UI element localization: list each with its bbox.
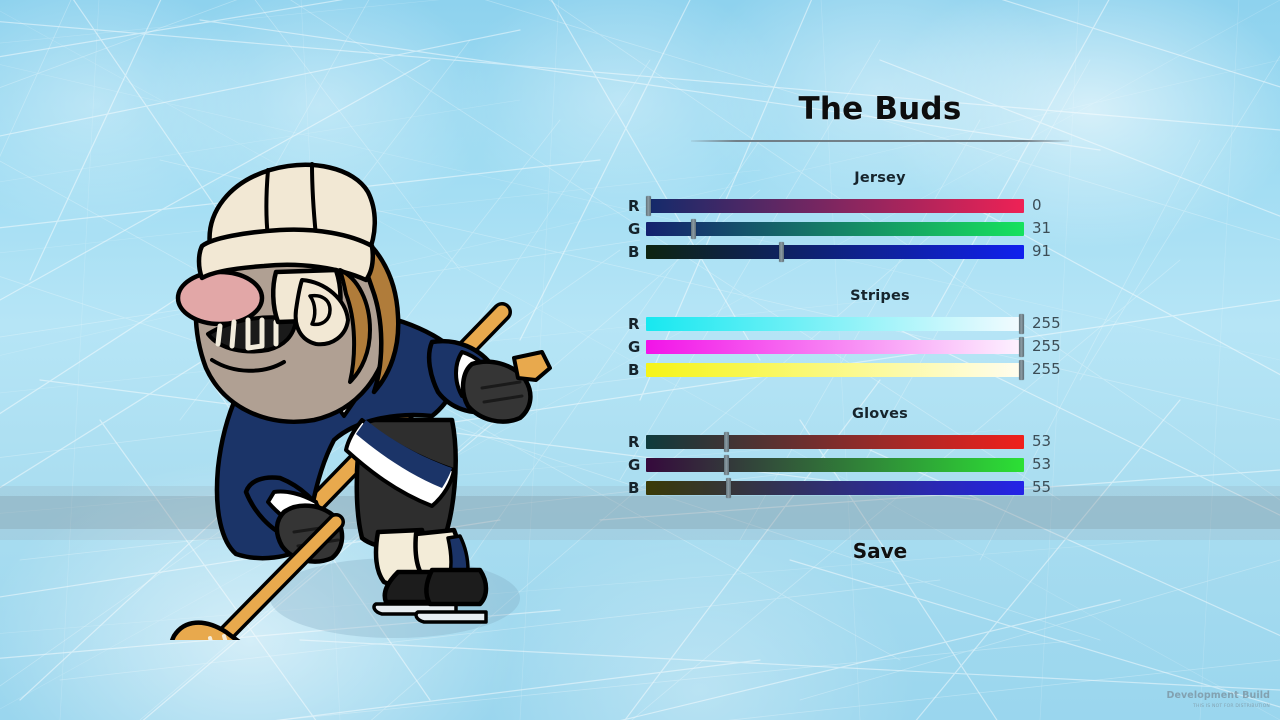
channel-label-r: R (620, 198, 646, 214)
slider-track-r[interactable] (646, 199, 1024, 213)
slider-handle-b[interactable] (779, 242, 784, 262)
slider-row-gloves-r[interactable]: R53 (620, 434, 1140, 450)
slider-track-g[interactable] (646, 222, 1024, 236)
channel-label-r: R (620, 434, 646, 450)
slider-row-jersey-b[interactable]: B91 (620, 244, 1140, 260)
slider-track-b[interactable] (646, 481, 1024, 495)
slider-row-jersey-r[interactable]: R0 (620, 198, 1140, 214)
hockey-player-character (150, 120, 590, 640)
channel-label-b: B (620, 244, 646, 260)
slider-value-r: 255 (1032, 314, 1061, 333)
slider-track-b[interactable] (646, 363, 1024, 377)
slider-group-jersey: JerseyR0G31B91 (620, 168, 1140, 260)
channel-label-b: B (620, 362, 646, 378)
slider-value-b: 255 (1032, 360, 1061, 379)
slider-group-stripes: StripesR255G255B255 (620, 286, 1140, 378)
slider-track-r[interactable] (646, 317, 1024, 331)
slider-groups: JerseyR0G31B91StripesR255G255B255GlovesR… (620, 168, 1140, 496)
slider-value-b: 91 (1032, 242, 1051, 261)
slider-handle-g[interactable] (1019, 337, 1024, 357)
slider-row-stripes-b[interactable]: B255 (620, 362, 1140, 378)
channel-label-g: G (620, 457, 646, 473)
slider-group-gloves: GlovesR53G53B55 (620, 404, 1140, 496)
stick-knob (514, 352, 550, 380)
slider-track-wrap[interactable]: 255 (646, 317, 1024, 331)
slider-handle-r[interactable] (724, 432, 729, 452)
slider-track-b[interactable] (646, 245, 1024, 259)
slider-track-wrap[interactable]: 31 (646, 222, 1024, 236)
group-label-jersey: Jersey (620, 168, 1140, 188)
slider-track-wrap[interactable]: 55 (646, 481, 1024, 495)
group-label-stripes: Stripes (620, 286, 1140, 306)
slider-track-r[interactable] (646, 435, 1024, 449)
slider-value-g: 53 (1032, 455, 1051, 474)
slider-value-r: 0 (1032, 196, 1042, 215)
slider-track-g[interactable] (646, 340, 1024, 354)
slider-track-wrap[interactable]: 53 (646, 458, 1024, 472)
slider-track-wrap[interactable]: 91 (646, 245, 1024, 259)
skate-blade-right (416, 612, 486, 622)
customizer-panel: The Buds JerseyR0G31B91StripesR255G255B2… (620, 90, 1140, 630)
slider-value-g: 31 (1032, 219, 1051, 238)
slider-track-wrap[interactable]: 53 (646, 435, 1024, 449)
slider-handle-g[interactable] (691, 219, 696, 239)
channel-label-g: G (620, 339, 646, 355)
slider-value-r: 53 (1032, 432, 1051, 451)
slider-handle-b[interactable] (1019, 360, 1024, 380)
slider-handle-b[interactable] (726, 478, 731, 498)
slider-row-jersey-g[interactable]: G31 (620, 221, 1140, 237)
slider-value-g: 255 (1032, 337, 1061, 356)
slider-row-stripes-r[interactable]: R255 (620, 316, 1140, 332)
slider-track-wrap[interactable]: 255 (646, 363, 1024, 377)
channel-label-r: R (620, 316, 646, 332)
title-divider (691, 140, 1069, 142)
slider-track-g[interactable] (646, 458, 1024, 472)
slider-handle-r[interactable] (646, 196, 651, 216)
watermark-label: Development Build (1166, 690, 1270, 701)
player-skate-right (426, 570, 486, 604)
slider-handle-g[interactable] (724, 455, 729, 475)
slider-handle-r[interactable] (1019, 314, 1024, 334)
slider-row-gloves-b[interactable]: B55 (620, 480, 1140, 496)
slider-track-wrap[interactable]: 255 (646, 340, 1024, 354)
game-screen: The Buds JerseyR0G31B91StripesR255G255B2… (0, 0, 1280, 720)
watermark-sublabel: THIS IS NOT FOR DISTRIBUTION (1166, 701, 1270, 712)
save-button[interactable]: Save (620, 538, 1140, 564)
channel-label-g: G (620, 221, 646, 237)
slider-track-wrap[interactable]: 0 (646, 199, 1024, 213)
page-title: The Buds (620, 90, 1140, 128)
slider-value-b: 55 (1032, 478, 1051, 497)
player-nose (178, 272, 262, 324)
development-build-watermark: Development Build THIS IS NOT FOR DISTRI… (1166, 690, 1270, 712)
slider-row-stripes-g[interactable]: G255 (620, 339, 1140, 355)
slider-row-gloves-g[interactable]: G53 (620, 457, 1140, 473)
group-label-gloves: Gloves (620, 404, 1140, 424)
channel-label-b: B (620, 480, 646, 496)
